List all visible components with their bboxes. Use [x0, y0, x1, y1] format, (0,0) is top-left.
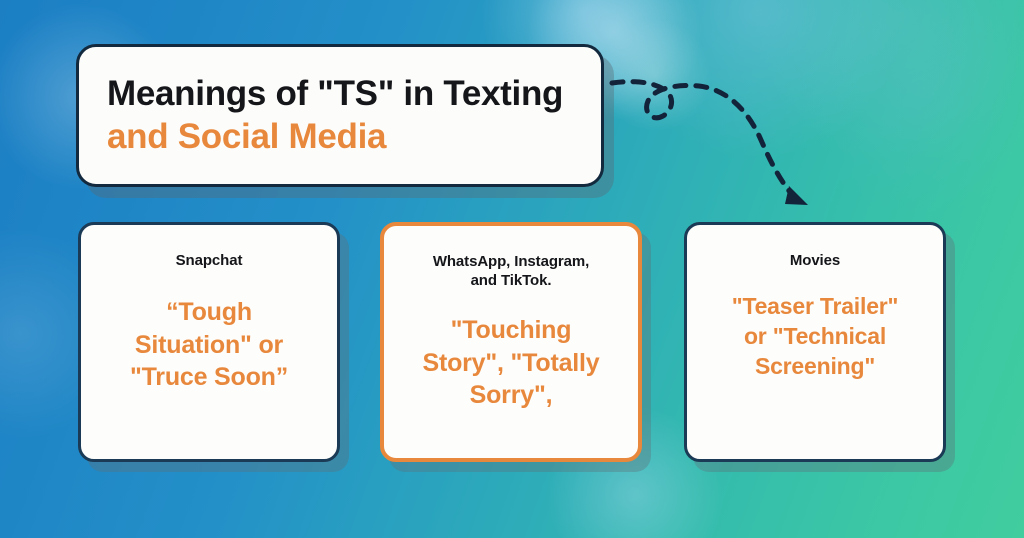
card-header-snapchat: Snapchat: [97, 251, 321, 270]
meaning-card-row: Snapchat “Tough Situation" or "Truce Soo…: [0, 222, 1024, 472]
card-header-whatsapp-instagram-tiktok: WhatsApp, Instagram, and TikTok.: [400, 252, 622, 290]
arrow-head-icon: [785, 186, 808, 205]
title-card: Meanings of "TS" in Texting and Social M…: [76, 44, 604, 187]
meaning-card-movies[interactable]: Movies "Teaser Trailer" or "Technical Sc…: [684, 222, 946, 462]
card-body-snapchat: “Tough Situation" or "Truce Soon”: [97, 296, 321, 394]
meaning-card-snapchat[interactable]: Snapchat “Tough Situation" or "Truce Soo…: [78, 222, 340, 462]
card-body-whatsapp-instagram-tiktok: "Touching Story", "Totally Sorry",: [400, 314, 622, 412]
dashed-looping-arrow-icon: [595, 60, 845, 230]
card-body-movies: "Teaser Trailer" or "Technical Screening…: [703, 292, 927, 382]
page-title-line-2: and Social Media: [107, 116, 575, 159]
meaning-card-whatsapp-instagram-tiktok[interactable]: WhatsApp, Instagram, and TikTok. "Touchi…: [380, 222, 642, 462]
page-title-line-1: Meanings of "TS" in Texting: [107, 73, 575, 116]
infographic-canvas: Meanings of "TS" in Texting and Social M…: [0, 0, 1024, 538]
arrow-path: [612, 82, 794, 197]
card-header-movies: Movies: [703, 251, 927, 270]
